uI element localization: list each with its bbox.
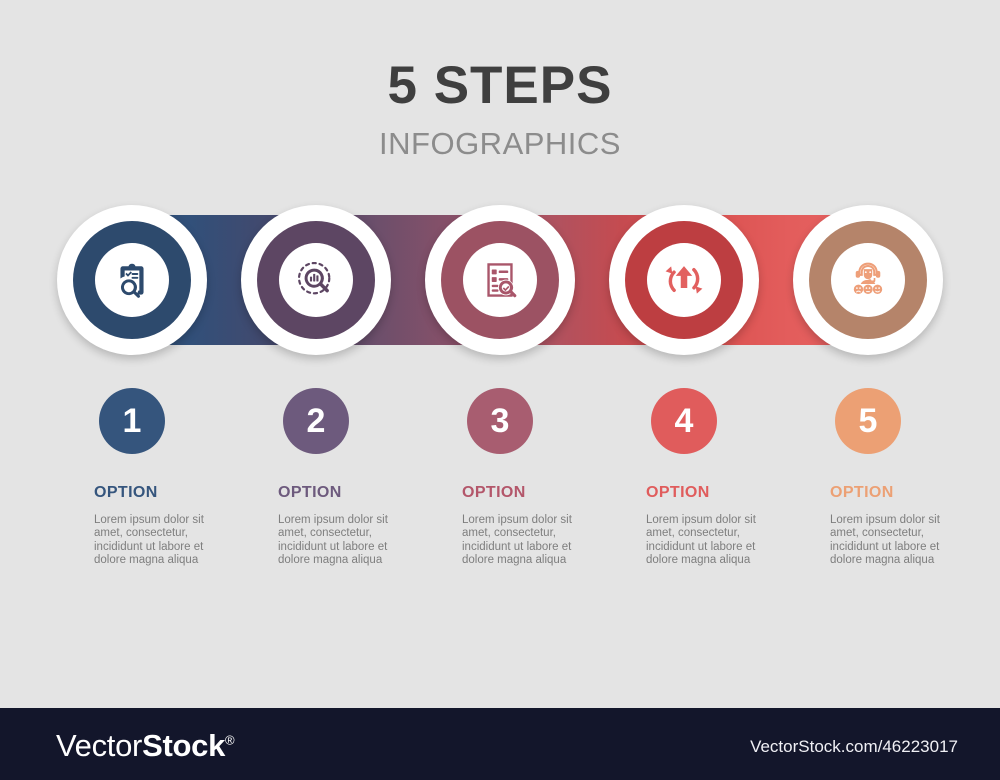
step-circle-2[interactable] bbox=[241, 205, 391, 355]
column-body-4: Lorem ipsum dolor sit amet, consectetur,… bbox=[646, 514, 758, 567]
clipboard-check-search-icon bbox=[110, 258, 154, 302]
chart-magnifier-icon bbox=[294, 258, 338, 302]
step-number-badge-5[interactable]: 5 bbox=[835, 388, 901, 454]
text-column-4: OPTION Lorem ipsum dolor sit amet, conse… bbox=[646, 484, 758, 567]
step-circle-5[interactable] bbox=[793, 205, 943, 355]
column-heading-4: OPTION bbox=[646, 484, 758, 502]
icon-holder-3 bbox=[463, 243, 537, 317]
column-heading-5: OPTION bbox=[830, 484, 942, 502]
registered-trademark-icon: ® bbox=[225, 733, 235, 748]
text-column-2: OPTION Lorem ipsum dolor sit amet, conse… bbox=[278, 484, 390, 567]
text-column-1: OPTION Lorem ipsum dolor sit amet, conse… bbox=[94, 484, 206, 567]
icon-holder-5 bbox=[831, 243, 905, 317]
upgrade-refresh-arrow-icon bbox=[661, 257, 707, 303]
icon-holder-2 bbox=[279, 243, 353, 317]
document-search-check-icon bbox=[478, 258, 522, 302]
footer-bar: VectorStock® VectorStock.com/46223017 bbox=[0, 708, 1000, 780]
infographic-canvas: 5 STEPS INFOGRAPHICS bbox=[0, 0, 1000, 780]
support-agent-feedback-icon bbox=[846, 258, 890, 302]
step-circle-1[interactable] bbox=[57, 205, 207, 355]
step-number-badge-3[interactable]: 3 bbox=[467, 388, 533, 454]
column-body-2: Lorem ipsum dolor sit amet, consectetur,… bbox=[278, 514, 390, 567]
vectorstock-logo: VectorStock® bbox=[56, 730, 235, 761]
column-heading-3: OPTION bbox=[462, 484, 574, 502]
column-body-1: Lorem ipsum dolor sit amet, consectetur,… bbox=[94, 514, 206, 567]
column-body-3: Lorem ipsum dolor sit amet, consectetur,… bbox=[462, 514, 574, 567]
page-subtitle: INFOGRAPHICS bbox=[0, 126, 1000, 162]
step-circles-row bbox=[0, 205, 1000, 355]
step-number-badge-2[interactable]: 2 bbox=[283, 388, 349, 454]
step-circle-4[interactable] bbox=[609, 205, 759, 355]
footer-url: VectorStock.com/46223017 bbox=[750, 738, 958, 755]
step-circle-3[interactable] bbox=[425, 205, 575, 355]
column-heading-1: OPTION bbox=[94, 484, 206, 502]
page-title: 5 STEPS bbox=[0, 58, 1000, 114]
column-body-5: Lorem ipsum dolor sit amet, consectetur,… bbox=[830, 514, 942, 567]
logo-text-bold: Stock bbox=[142, 728, 225, 763]
number-badges-row: 1 2 3 4 5 bbox=[0, 388, 1000, 456]
icon-holder-4 bbox=[647, 243, 721, 317]
icon-holder-1 bbox=[95, 243, 169, 317]
text-columns: OPTION Lorem ipsum dolor sit amet, conse… bbox=[0, 484, 1000, 614]
column-heading-2: OPTION bbox=[278, 484, 390, 502]
text-column-5: OPTION Lorem ipsum dolor sit amet, conse… bbox=[830, 484, 942, 567]
text-column-3: OPTION Lorem ipsum dolor sit amet, conse… bbox=[462, 484, 574, 567]
logo-text-thin: Vector bbox=[56, 728, 142, 763]
title-block: 5 STEPS INFOGRAPHICS bbox=[0, 58, 1000, 162]
step-number-badge-4[interactable]: 4 bbox=[651, 388, 717, 454]
step-number-badge-1[interactable]: 1 bbox=[99, 388, 165, 454]
